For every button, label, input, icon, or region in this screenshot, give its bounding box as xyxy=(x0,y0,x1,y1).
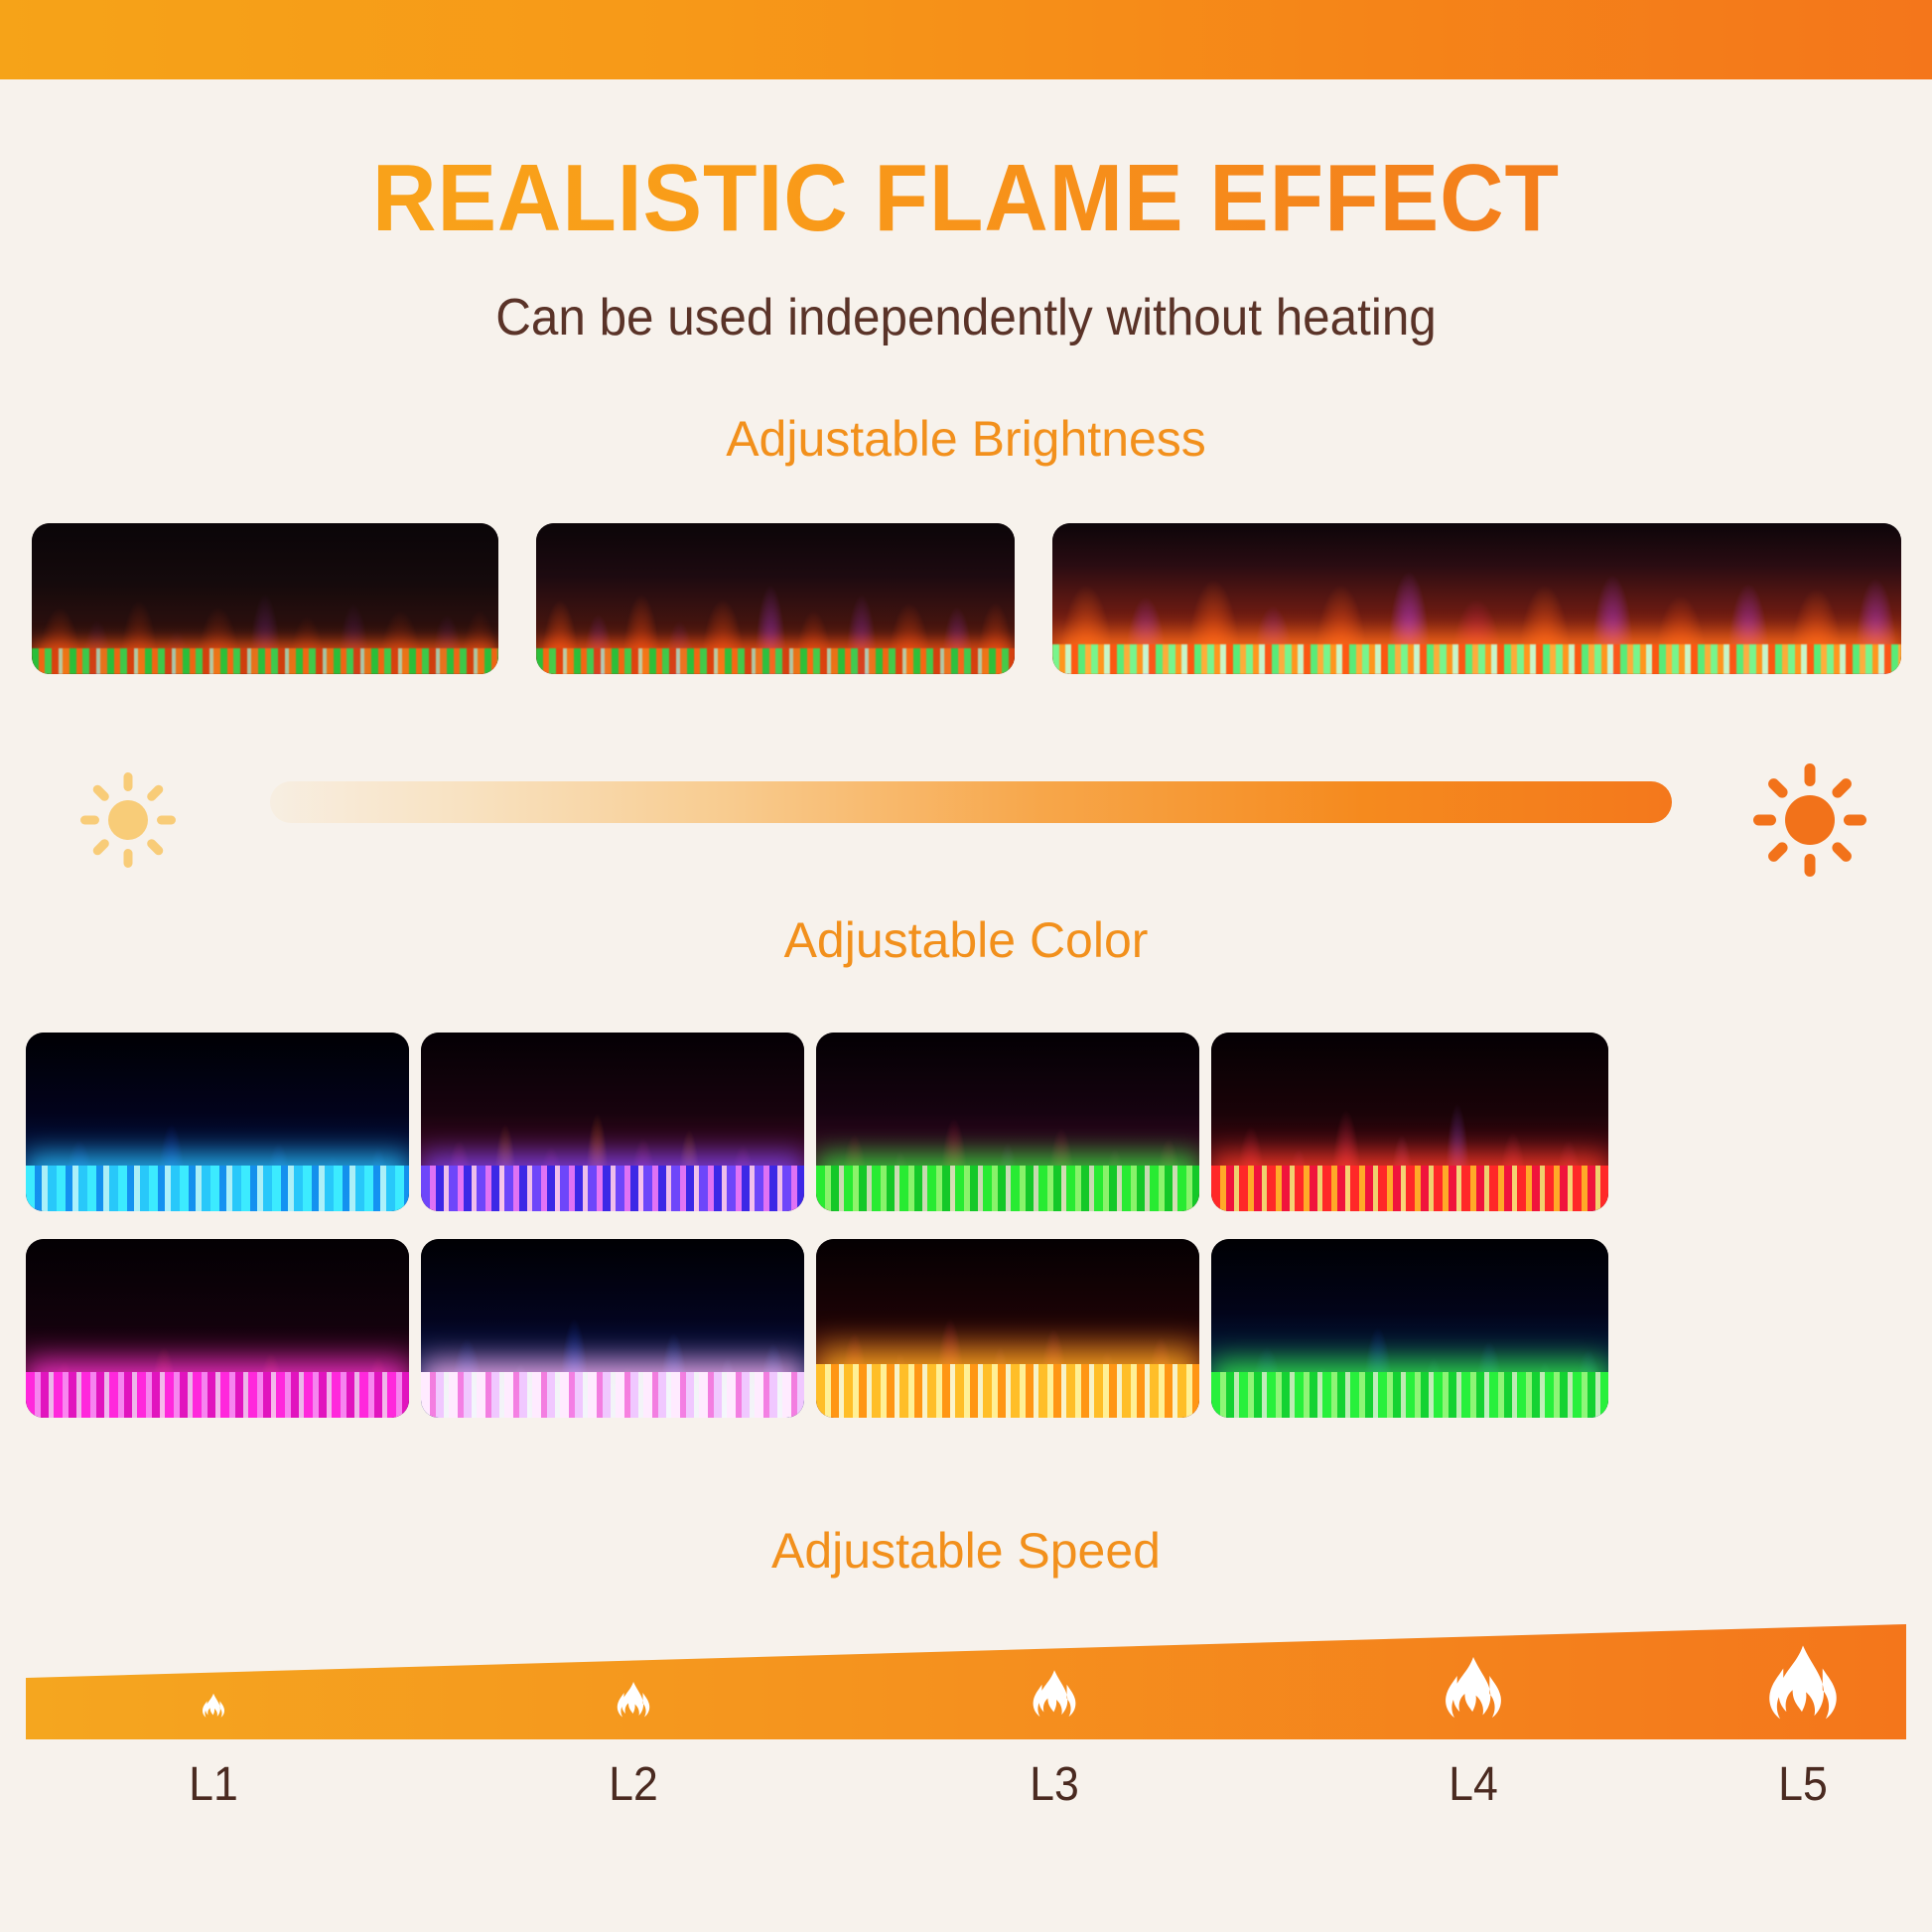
speed-level-label: L4 xyxy=(1409,1757,1538,1812)
crystal-bed-red-orange xyxy=(1211,1166,1608,1211)
flame-icon xyxy=(1751,1631,1855,1734)
brightness-panel-high xyxy=(1052,523,1901,674)
crystal-bed-amber-gold xyxy=(816,1364,1199,1418)
crystal-bed-magenta xyxy=(26,1372,409,1418)
color-tile-blue-cyan xyxy=(26,1033,409,1211)
speed-level-label: L2 xyxy=(569,1757,698,1812)
sun-icon-large xyxy=(1749,759,1870,881)
flame-icon xyxy=(1022,1661,1087,1726)
speed-level-label: L1 xyxy=(149,1757,278,1812)
color-tile-red-magenta xyxy=(26,1239,409,1418)
section-heading-color: Adjustable Color xyxy=(0,911,1932,969)
page-subtitle: Can be used independently without heatin… xyxy=(49,288,1884,347)
section-heading-speed: Adjustable Speed xyxy=(0,1522,1932,1580)
sun-icon-small xyxy=(75,767,181,873)
flame-icon xyxy=(197,1689,230,1723)
page-title: REALISTIC FLAME EFFECT xyxy=(68,151,1864,246)
ember-bed-high xyxy=(1052,644,1901,674)
speed-ramp xyxy=(26,1618,1906,1745)
color-tile-red-amber xyxy=(1211,1033,1608,1211)
speed-level-label: L5 xyxy=(1738,1757,1867,1812)
brightness-slider-row[interactable] xyxy=(0,750,1932,859)
brightness-slider-track[interactable] xyxy=(270,781,1672,823)
section-heading-brightness: Adjustable Brightness xyxy=(0,410,1932,468)
color-tile-blue-green xyxy=(1211,1239,1608,1418)
ember-bed-medium xyxy=(536,648,1015,674)
crystal-bed-green xyxy=(816,1166,1199,1211)
flame-icon xyxy=(1431,1645,1516,1730)
crystal-bed-white-pink xyxy=(421,1372,804,1418)
crystal-bed-violet xyxy=(421,1166,804,1211)
crystal-bed-green-2 xyxy=(1211,1372,1608,1418)
brightness-panel-medium xyxy=(536,523,1015,674)
ember-bed-low xyxy=(32,648,498,674)
color-tile-red-green xyxy=(816,1033,1199,1211)
brightness-panel-low xyxy=(32,523,498,674)
speed-selector[interactable]: L1L2L3L4L5 xyxy=(0,1618,1932,1866)
color-tile-blue-white xyxy=(421,1239,804,1418)
color-tile-pink-violet xyxy=(421,1033,804,1211)
flame-icon xyxy=(609,1675,658,1725)
color-tile-redpink-gold xyxy=(816,1239,1199,1418)
top-accent-bar xyxy=(0,0,1932,79)
crystal-bed-cyan xyxy=(26,1166,409,1211)
speed-level-label: L3 xyxy=(990,1757,1119,1812)
